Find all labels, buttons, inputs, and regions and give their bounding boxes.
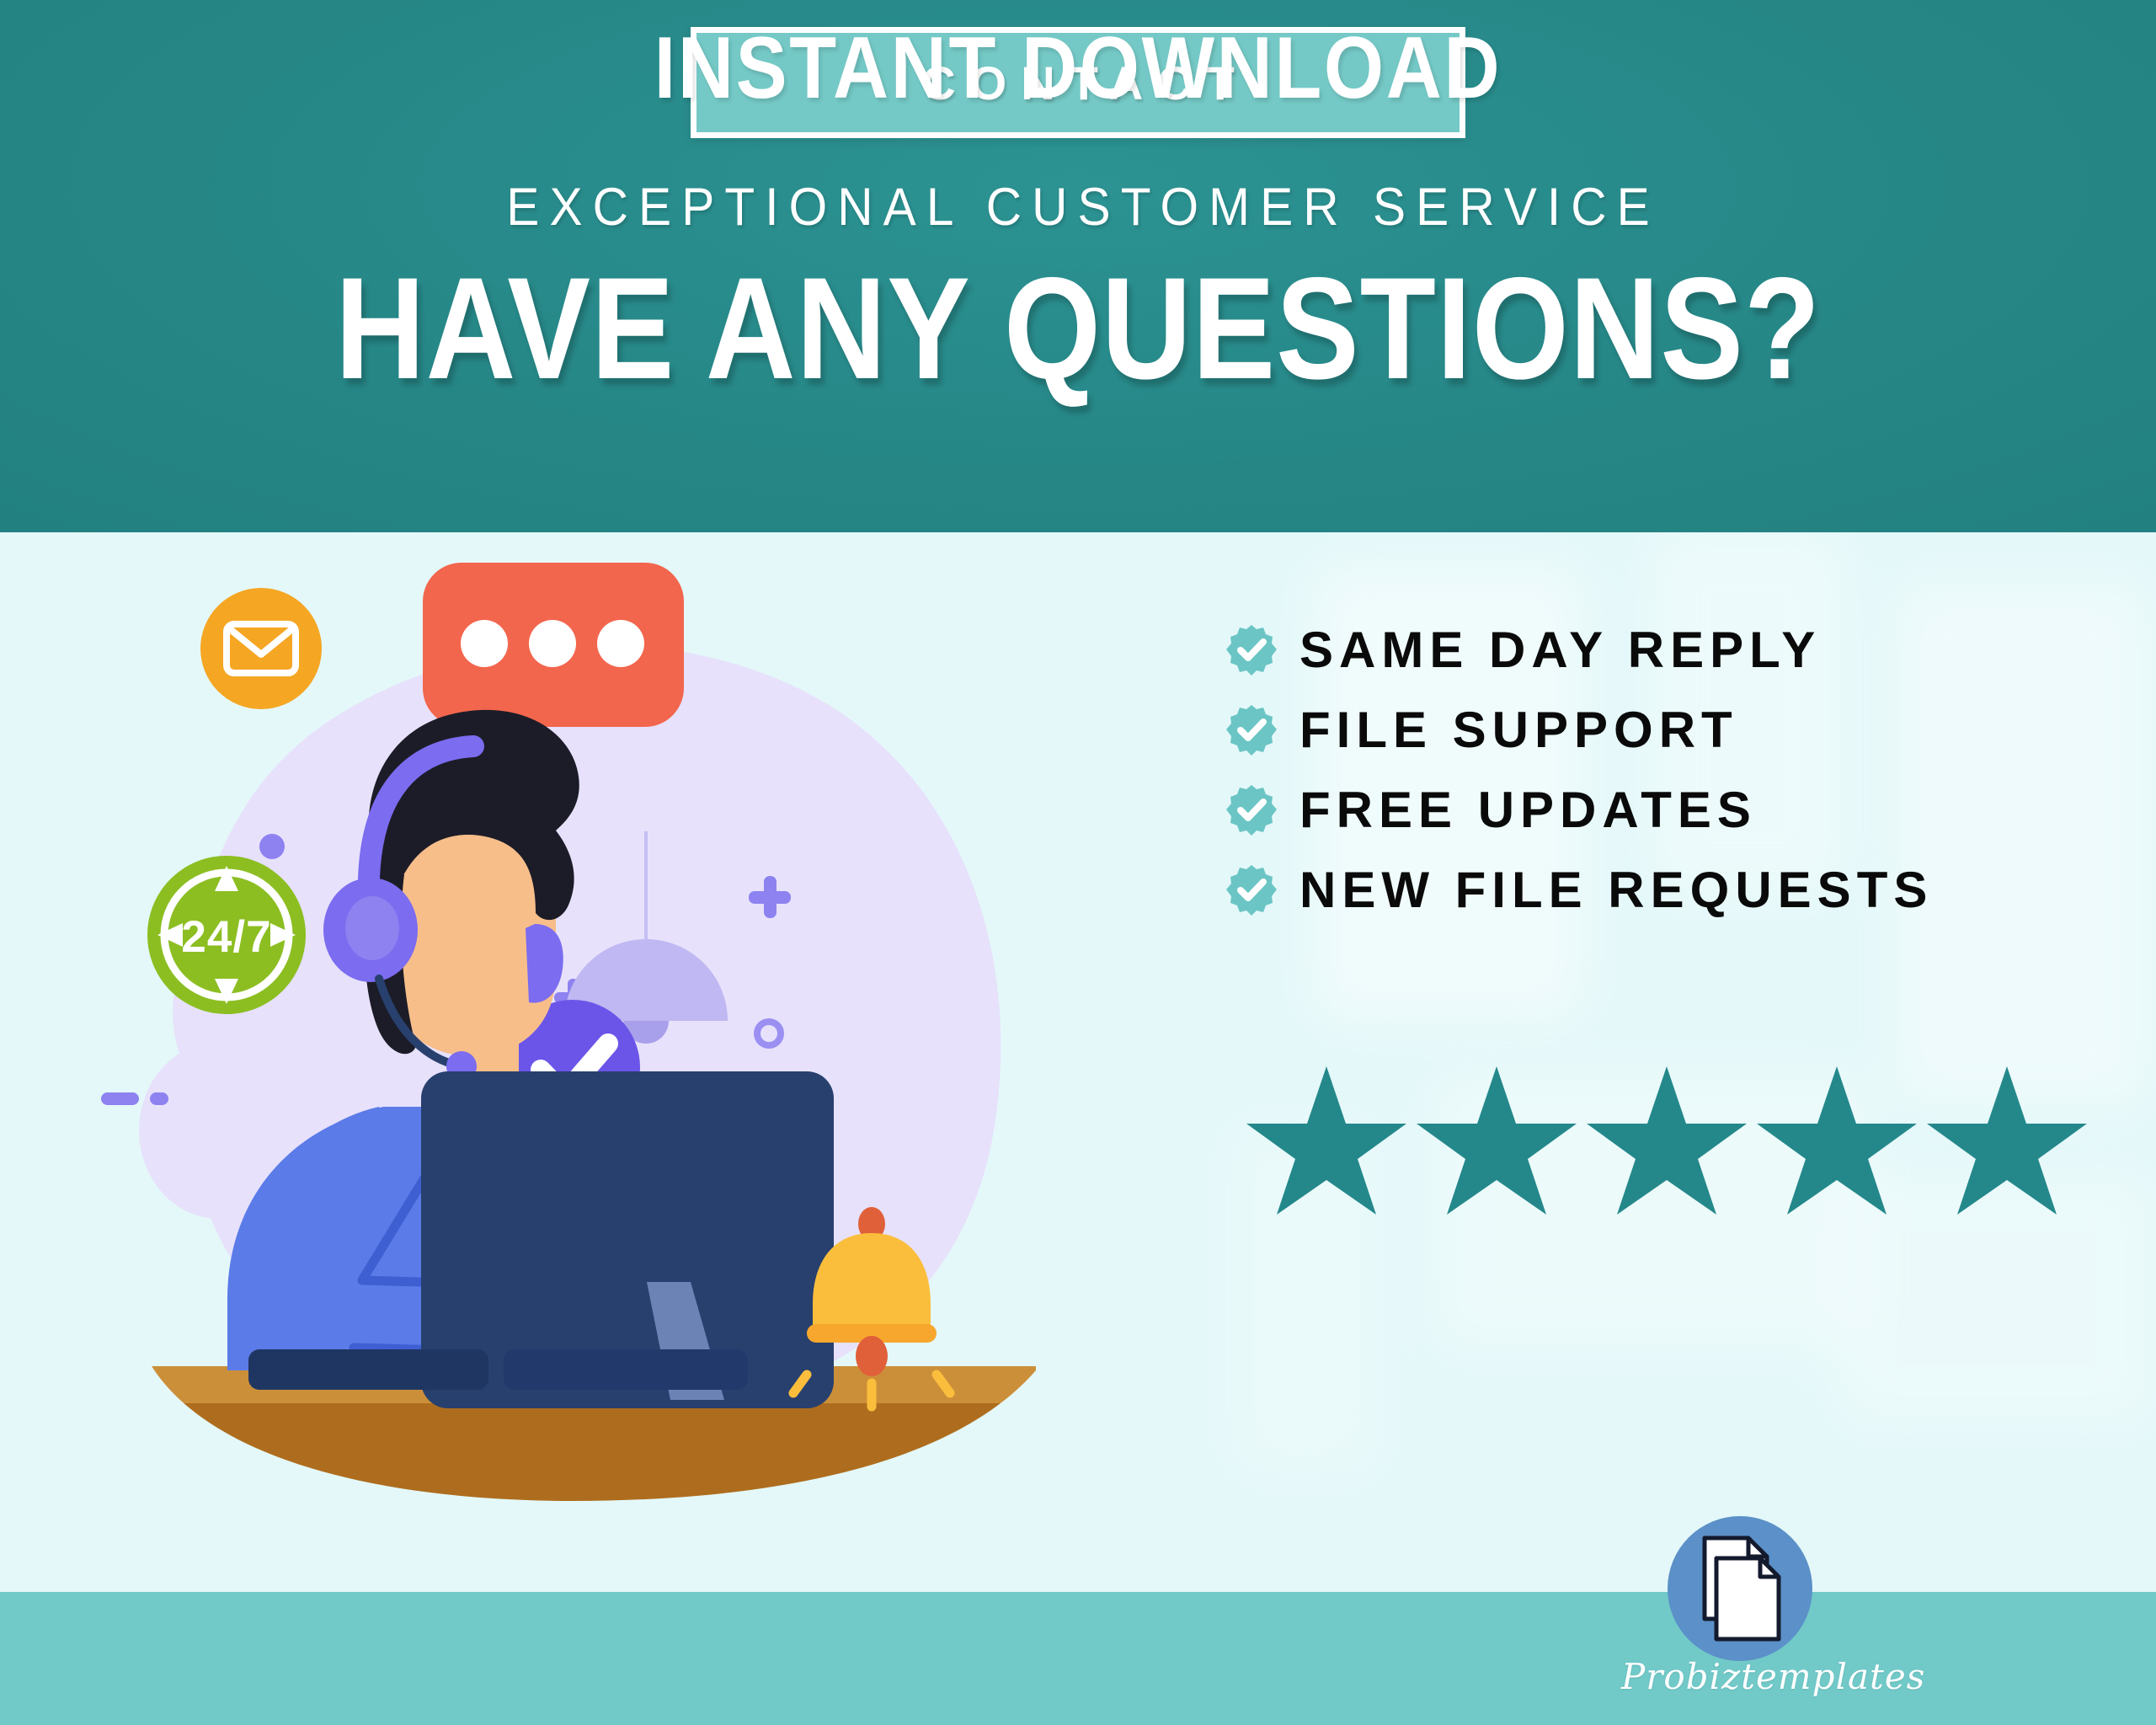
feature-label: FILE SUPPORT xyxy=(1299,701,1738,759)
star-icon xyxy=(1587,1066,1747,1215)
star-icon xyxy=(1246,1066,1406,1215)
header-subtitle: EXCEPTIONAL CUSTOMER SERVICE xyxy=(76,177,2081,238)
instant-download-label: INSTANT DOWNLOAD xyxy=(130,19,2027,119)
feature-list: SAME DAY REPLY FILE SUPPORT xyxy=(1225,610,1933,930)
feature-item: NEW FILE REQUESTS xyxy=(1225,850,1933,930)
main-content: 24/7 xyxy=(0,532,2156,1592)
documents-icon xyxy=(1668,1516,1812,1661)
feature-item: SAME DAY REPLY xyxy=(1225,610,1933,690)
star-rating xyxy=(1246,1063,2089,1215)
check-badge-icon xyxy=(1225,624,1278,676)
feature-label: FREE UPDATES xyxy=(1299,781,1757,839)
check-badge-icon xyxy=(1225,704,1278,756)
brand-logo: Probiztemplates xyxy=(1655,1516,1823,1718)
page-title: HAVE ANY QUESTIONS? xyxy=(151,253,2005,405)
feature-item: FREE UPDATES xyxy=(1225,770,1933,850)
dash-decoration xyxy=(101,1092,139,1105)
feature-item: FILE SUPPORT xyxy=(1225,690,1933,770)
contact-poster: CONTACT EXCEPTIONAL CUSTOMER SERVICE HAV… xyxy=(0,0,2156,1725)
clock-24-7-icon: 24/7 xyxy=(147,856,306,1014)
dot-decoration xyxy=(259,834,285,859)
star-icon xyxy=(1757,1066,1917,1215)
check-badge-icon xyxy=(1225,864,1278,916)
envelope-icon xyxy=(200,588,322,709)
svg-text:24/7: 24/7 xyxy=(181,912,271,962)
feature-label: NEW FILE REQUESTS xyxy=(1299,861,1933,919)
dash-decoration xyxy=(150,1092,168,1105)
brand-name: Probiztemplates xyxy=(1621,1656,1857,1697)
feature-label: SAME DAY REPLY xyxy=(1299,621,1821,679)
star-icon xyxy=(1927,1066,2087,1215)
check-badge-icon xyxy=(1225,784,1278,836)
star-icon xyxy=(1417,1066,1577,1215)
customer-support-illustration: 24/7 xyxy=(101,541,1187,1518)
